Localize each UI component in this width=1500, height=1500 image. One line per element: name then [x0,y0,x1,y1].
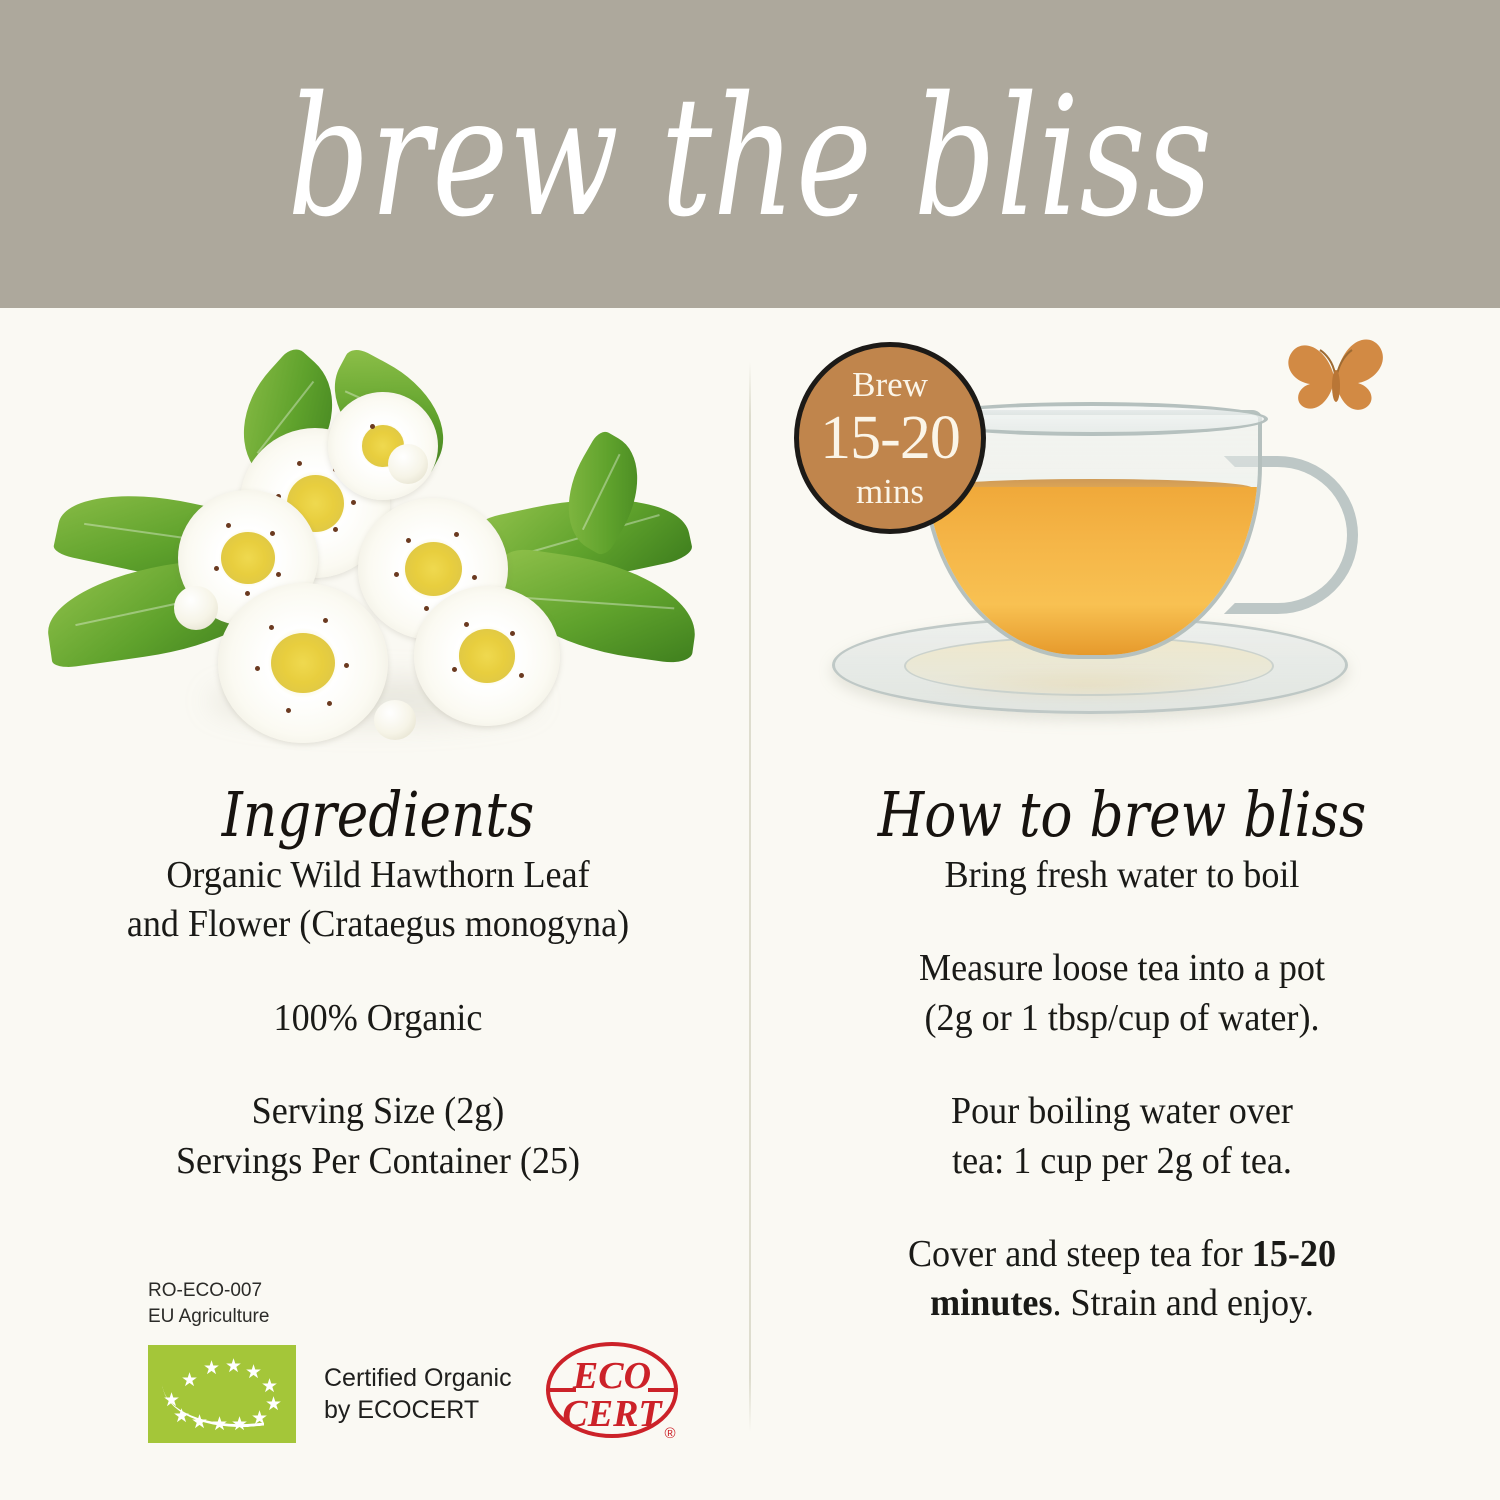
certification-caption-line-1: Certified Organic [324,1362,512,1394]
hawthorn-flower [414,586,560,726]
servings-per-container-text: Servings Per Container (25) [46,1137,711,1186]
glass-teacup-photo: Brew 15-20 mins [772,348,1472,778]
page-title: brew the bliss [287,75,1212,240]
ingredient-text-line-1: Organic Wild Hawthorn Leaf [46,851,711,900]
cert-code-line-1: RO-ECO-007 [148,1278,668,1304]
brew-step-4-line-1: Cover and steep tea for 15-20 [790,1230,1455,1279]
organic-claim: 100% Organic [28,994,728,1043]
serving-size-text: Serving Size (2g) [46,1087,711,1136]
brewing-column: Brew 15-20 mins How to brew bliss Bring … [772,330,1472,1329]
hawthorn-blossom-photo [28,348,728,778]
svg-text:CERT: CERT [562,1393,663,1435]
brew-step-4-bold-time: 15-20 [1252,1233,1336,1275]
ingredients-heading: Ingredients [77,778,679,851]
eu-organic-leaf-logo: ★ ★ ★ ★ ★ ★ ★ ★ ★ ★ ★ ★ [148,1345,296,1443]
brew-step-2-line-1: Measure loose tea into a pot [790,944,1455,993]
badge-line-1: Brew [852,367,928,402]
brew-step: Measure loose tea into a pot (2g or 1 tb… [772,944,1472,1043]
brew-time-badge: Brew 15-20 mins [794,342,986,534]
certification-block: RO-ECO-007 EU Agriculture ★ ★ ★ ★ ★ ★ ★ … [148,1278,668,1450]
hawthorn-flower [218,583,388,743]
brew-step-4-prefix: Cover and steep tea for [908,1233,1252,1275]
certification-caption-line-2: by ECOCERT [324,1394,512,1426]
certification-caption: Certified Organic by ECOCERT [324,1362,512,1426]
organic-claim-text: 100% Organic [46,994,711,1043]
brew-step-1-text: Bring fresh water to boil [790,851,1455,900]
brew-step-2-line-2: (2g or 1 tbsp/cup of water). [790,994,1455,1043]
badge-line-2: 15-20 [820,407,960,469]
brew-step-3-line-2: tea: 1 cup per 2g of tea. [790,1137,1455,1186]
ingredients-column: Ingredients Organic Wild Hawthorn Leaf a… [28,330,728,1186]
brew-step: Bring fresh water to boil [772,851,1472,900]
hawthorn-flower [328,392,438,500]
header-banner: brew the bliss [0,0,1500,308]
eu-certification-code: RO-ECO-007 EU Agriculture [148,1278,668,1329]
flower-bud [388,444,428,484]
serving-info: Serving Size (2g) Servings Per Container… [28,1087,728,1186]
brew-step-4-line-2: minutes. Strain and enjoy. [790,1279,1455,1328]
badge-line-3: mins [856,474,924,509]
brew-step-4-suffix: . Strain and enjoy. [1053,1282,1314,1324]
product-info-panel: brew the bliss [0,0,1500,1500]
brew-step-3-line-1: Pour boiling water over [790,1087,1455,1136]
svg-text:®: ® [664,1425,675,1442]
ingredient-text-line-2: and Flower (Crataegus monogyna) [46,900,711,949]
column-divider [749,362,751,1432]
butterfly-icon [1280,330,1390,422]
flower-bud [174,586,218,630]
svg-text:ECO: ECO [572,1355,651,1397]
cert-code-line-2: EU Agriculture [148,1304,668,1330]
brew-step: Cover and steep tea for 15-20 minutes. S… [772,1230,1472,1329]
ingredient-line: Organic Wild Hawthorn Leaf and Flower (C… [28,851,728,950]
ecocert-logo: ECO CERT ® [542,1338,688,1450]
brewing-heading: How to brew bliss [821,778,1423,851]
brew-step: Pour boiling water over tea: 1 cup per 2… [772,1087,1472,1186]
flower-bud [374,700,416,740]
brew-step-4-bold-unit: minutes [930,1282,1052,1324]
